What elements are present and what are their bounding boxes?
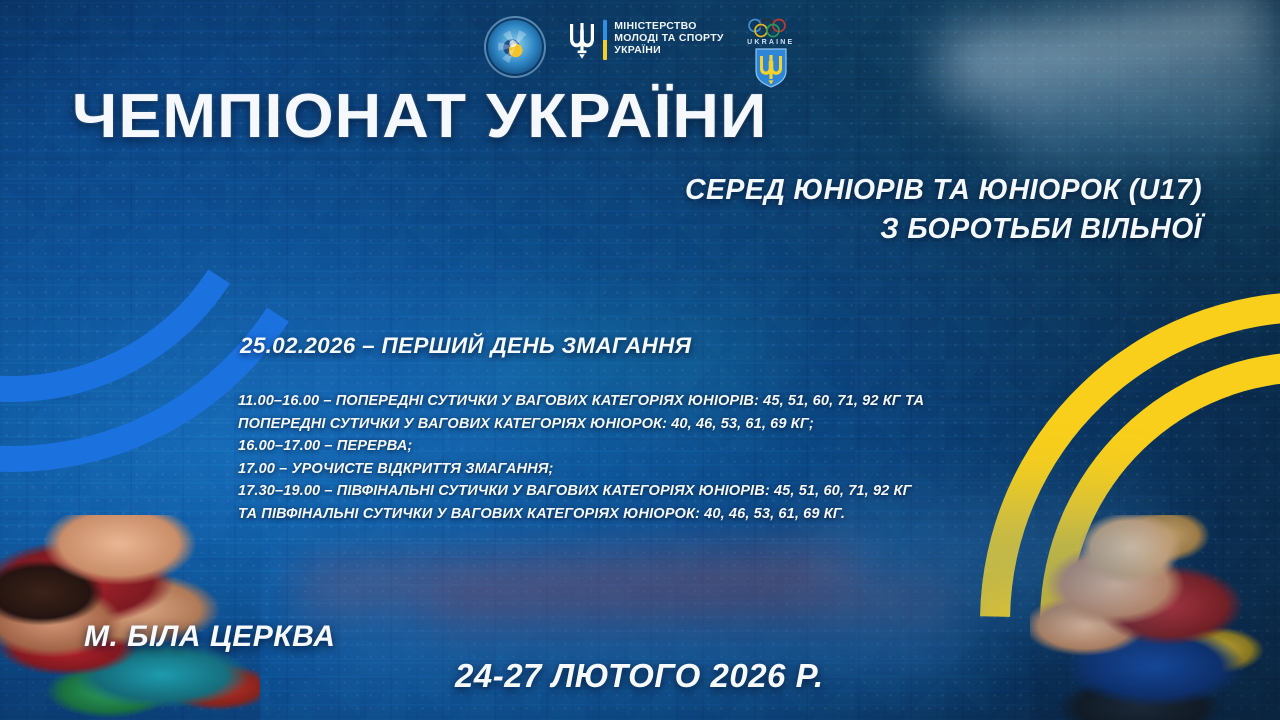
dates-label: 24-27 ЛЮТОГО 2026 Р. xyxy=(455,657,824,695)
national-olympic-committee-logo: UKRAINE xyxy=(746,16,796,89)
schedule-body: 11.00–16.00 – ПОПЕРЕДНІ СУТИЧКИ У ВАГОВИ… xyxy=(238,390,998,526)
noc-country-label: UKRAINE xyxy=(747,39,794,46)
schedule-line: ПОПЕРЕДНІ СУТИЧКИ У ВАГОВИХ КАТЕГОРІЯХ Ю… xyxy=(238,413,998,436)
ministry-line-2: МОЛОДІ ТА СПОРТУ xyxy=(614,32,724,44)
logo-strip: МІНІСТЕРСТВО МОЛОДІ ТА СПОРТУ УКРАЇНИ UK… xyxy=(0,16,1280,89)
poster-canvas: МІНІСТЕРСТВО МОЛОДІ ТА СПОРТУ УКРАЇНИ UK… xyxy=(0,0,1280,720)
schedule-line: 11.00–16.00 – ПОПЕРЕДНІ СУТИЧКИ У ВАГОВИ… xyxy=(238,390,998,413)
olympic-rings-icon xyxy=(746,18,796,38)
ministry-line-1: МІНІСТЕРСТВО xyxy=(614,20,724,32)
ministry-logo: МІНІСТЕРСТВО МОЛОДІ ТА СПОРТУ УКРАЇНИ xyxy=(568,16,724,60)
page-title: ЧЕМПІОНАТ УКРАЇНИ xyxy=(72,86,767,148)
subtitle-line-1: СЕРЕД ЮНІОРІВ ТА ЮНІОРОК (U17) xyxy=(685,172,1202,208)
ministry-line-3: УКРАЇНИ xyxy=(614,44,724,56)
schedule-line: 16.00–17.00 – ПЕРЕРВА; xyxy=(238,435,998,458)
schedule-heading: 25.02.2026 – ПЕРШИЙ ДЕНЬ ЗМАГАННЯ xyxy=(240,333,691,359)
ministry-flag-bar xyxy=(603,20,607,60)
schedule-line: 17.00 – УРОЧИСТЕ ВІДКРИТТЯ ЗМАГАННЯ; xyxy=(238,458,998,481)
schedule-line: 17.30–19.00 – ПІВФІНАЛЬНІ СУТИЧКИ У ВАГО… xyxy=(238,480,998,503)
schedule-line: ТА ПІВФІНАЛЬНІ СУТИЧКИ У ВАГОВИХ КАТЕГОР… xyxy=(238,503,998,526)
city-label: М. БІЛА ЦЕРКВА xyxy=(84,620,335,654)
ministry-name: МІНІСТЕРСТВО МОЛОДІ ТА СПОРТУ УКРАЇНИ xyxy=(614,20,724,57)
subtitle-line-2: З БОРОТЬБИ ВІЛЬНОЇ xyxy=(685,211,1202,247)
subtitle-block: СЕРЕД ЮНІОРІВ ТА ЮНІОРОК (U17) З БОРОТЬБ… xyxy=(685,172,1202,247)
ukraine-trident-icon xyxy=(568,20,596,60)
wrestling-federation-emblem-icon xyxy=(484,16,546,78)
